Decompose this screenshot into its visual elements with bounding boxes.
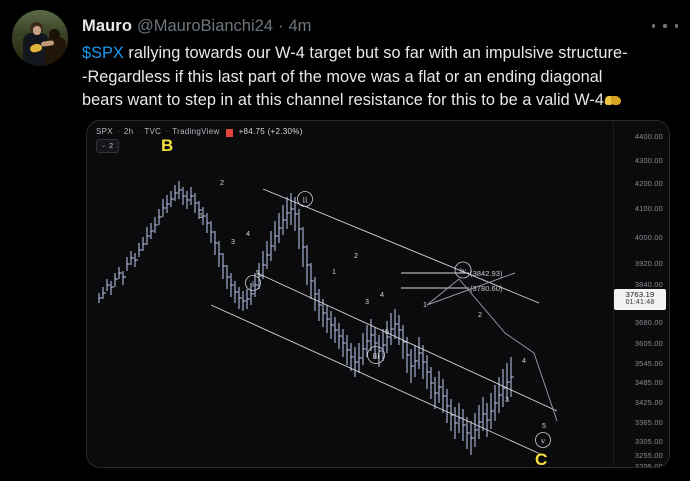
- price-tick: 3680.00: [635, 318, 663, 327]
- meta-separator: ·: [278, 16, 284, 36]
- minor-wave-1a: 1: [199, 211, 203, 220]
- price-tick: 4100.00: [635, 204, 663, 213]
- tweet-line-3: bears want to step in at this channel re…: [82, 91, 604, 109]
- user-handle[interactable]: @MauroBianchi24: [137, 16, 273, 36]
- avatar-second-person-head: [49, 29, 60, 40]
- minor-wave-4a: 4: [246, 229, 250, 238]
- price-tick: 4400.00: [635, 132, 663, 141]
- wave-label-i: i: [252, 279, 255, 289]
- display-name[interactable]: Mauro: [82, 16, 132, 36]
- wave-label-ii: ii: [303, 195, 308, 205]
- price-tick: 4300.00: [635, 156, 663, 165]
- tweet-body-text: $SPX rallying towards our W-4 target but…: [82, 42, 682, 113]
- more-dot-2: [663, 24, 666, 27]
- wave-label-C: C: [535, 451, 547, 468]
- circled-wave-labels: i ii iii iv v 1 2 3 4 5 1 2 3 4 5: [87, 121, 615, 468]
- tweet-line-2: -Regardless if this last part of the mov…: [82, 68, 602, 86]
- proj-wave-3: 3: [505, 395, 509, 404]
- proj-wave-4: 4: [522, 356, 526, 365]
- chart-plot-area: i ii iii iv v 1 2 3 4 5 1 2 3 4 5: [87, 121, 615, 468]
- more-horizontal-icon[interactable]: [652, 18, 678, 34]
- wave-label-v: v: [541, 436, 546, 446]
- price-tick: 3365.00: [635, 418, 663, 427]
- handshake-emoji: [605, 94, 621, 107]
- price-tick: 3305.00: [635, 437, 663, 446]
- tweet-card: Mauro @MauroBianchi24 · 4m $SPX rallying…: [0, 0, 690, 481]
- minor-wave-5b: 5: [385, 327, 389, 336]
- minor-wave-4b: 4: [380, 290, 384, 299]
- minor-wave-2a: 2: [220, 178, 224, 187]
- price-tick: 3255.00: [635, 451, 663, 460]
- price-tick: 4000.00: [635, 233, 663, 242]
- more-dot-1: [652, 24, 655, 27]
- minor-wave-2b: 2: [354, 251, 358, 260]
- avatar[interactable]: [12, 10, 68, 66]
- timestamp[interactable]: 4m: [289, 16, 312, 36]
- more-dot-3: [675, 24, 678, 27]
- chart-image[interactable]: SPX · 2h · TVC · TradingView +84.75 (+2.…: [86, 120, 670, 468]
- price-tick: 3840.00: [635, 280, 663, 289]
- proj-wave-5: 5: [542, 421, 546, 430]
- price-tick: 3485.00: [635, 378, 663, 387]
- minor-wave-3b: 3: [365, 297, 369, 306]
- target-label-upper: (3842.93): [470, 269, 503, 278]
- price-tick: 3425.00: [635, 398, 663, 407]
- minor-wave-5a: 5: [256, 268, 260, 277]
- price-tick: 3605.00: [635, 339, 663, 348]
- wave-label-iii: iii: [372, 351, 380, 361]
- minor-wave-1b: 1: [332, 267, 336, 276]
- minor-wave-numbers: 1 2 3 4 5 1 2 3 4 5 1 2 3 4 5: [199, 178, 546, 430]
- cashtag-link[interactable]: $SPX: [82, 44, 124, 62]
- price-tick: 3545.00: [635, 359, 663, 368]
- current-price-badge[interactable]: 3763.19 01:41:48: [614, 289, 666, 310]
- price-tick: 3205.00: [635, 462, 663, 468]
- price-tick: 3920.00: [635, 259, 663, 268]
- avatar-person-face: [33, 26, 41, 35]
- wave-label-B: B: [161, 137, 173, 154]
- tweet-line-1: rallying towards our W-4 target but so f…: [124, 44, 628, 62]
- tweet-author-row: Mauro @MauroBianchi24 · 4m: [82, 16, 311, 36]
- proj-wave-2: 2: [478, 310, 482, 319]
- current-price-value: 3763.19: [614, 291, 666, 300]
- minor-wave-3a: 3: [231, 237, 235, 246]
- price-tick: 4200.00: [635, 179, 663, 188]
- price-axis[interactable]: 4400.00 4300.00 4200.00 4100.00 4000.00 …: [613, 121, 669, 468]
- proj-wave-1: 1: [423, 300, 427, 309]
- bar-countdown: 01:41:48: [614, 299, 666, 308]
- target-label-lower: (3780.60): [470, 284, 503, 293]
- wave-label-iv: iv: [460, 266, 467, 276]
